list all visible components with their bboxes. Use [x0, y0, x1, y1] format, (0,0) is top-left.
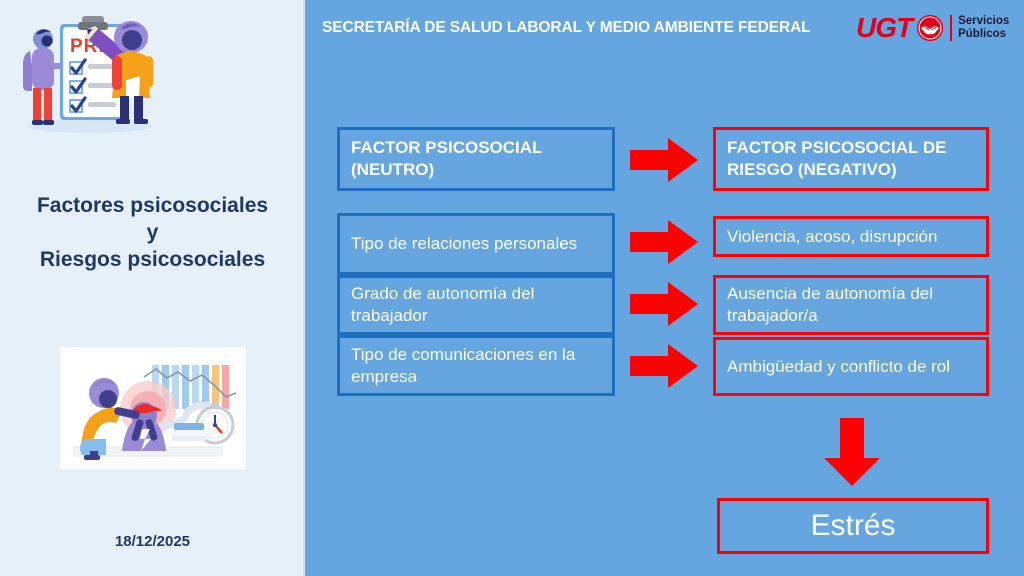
risk-factor-label-3: Ambigüedad y conflicto de rol	[716, 356, 950, 378]
handshake-emblem-icon	[917, 15, 943, 41]
neutral-factor-label-1: Tipo de relaciones personales	[340, 233, 577, 255]
workplace-stress-illustration	[60, 347, 246, 469]
neutral-factor-box-2[interactable]: Grado de autonomía del trabajador	[337, 275, 615, 335]
risk-factor-box-1[interactable]: Violencia, acoso, disrupción	[713, 216, 989, 257]
page-title-line-3: Riesgos psicosociales	[0, 246, 305, 273]
ugt-wordmark: UGT	[856, 14, 912, 42]
page-title: Factores psicosociales y Riesgos psicoso…	[0, 192, 305, 273]
arrow-right-icon	[630, 344, 698, 388]
outcome-estres-box[interactable]: Estrés	[717, 498, 989, 554]
neutral-factor-header-box[interactable]: FACTOR PSICOSOCIAL (NEUTRO)	[337, 127, 615, 191]
arrow-down-icon	[820, 418, 884, 486]
ugt-subtitle-line-2: Públicos	[958, 28, 1009, 41]
risk-factor-label-1: Violencia, acoso, disrupción	[716, 226, 937, 248]
neutral-factor-box-1[interactable]: Tipo de relaciones personales	[337, 213, 615, 275]
neutral-factor-label-2: Grado de autonomía del trabajador	[340, 283, 612, 327]
neutral-factor-label-3: Tipo de comunicaciones en la empresa	[340, 344, 612, 388]
neutral-factor-box-3[interactable]: Tipo de comunicaciones en la empresa	[337, 335, 615, 396]
risk-factor-header-label: FACTOR PSICOSOCIAL DE RIESGO (NEGATIVO)	[716, 137, 986, 181]
slide-date: 18/12/2025	[0, 533, 305, 550]
arrow-right-icon	[630, 220, 698, 264]
ugt-logo: UGT Servicios Públicos	[856, 8, 1016, 48]
slide-canvas: PRL	[0, 0, 1024, 576]
page-title-line-1: Factores psicosociales	[0, 192, 305, 219]
page-title-line-2: y	[0, 219, 305, 246]
ugt-subtitle: Servicios Públicos	[958, 15, 1009, 41]
neutral-factor-header-label: FACTOR PSICOSOCIAL (NEUTRO)	[340, 137, 612, 181]
outcome-estres-label: Estrés	[810, 515, 895, 537]
risk-factor-label-2: Ausencia de autonomía del trabajador/a	[716, 283, 986, 327]
sidebar-divider	[303, 0, 305, 576]
risk-factor-header-box[interactable]: FACTOR PSICOSOCIAL DE RIESGO (NEGATIVO)	[713, 127, 989, 191]
header-title: SECRETARÍA DE SALUD LABORAL Y MEDIO AMBI…	[322, 19, 811, 37]
logo-divider	[950, 15, 952, 41]
risk-factor-box-3[interactable]: Ambigüedad y conflicto de rol	[713, 337, 989, 396]
risk-factor-box-2[interactable]: Ausencia de autonomía del trabajador/a	[713, 275, 989, 335]
arrow-right-icon	[630, 138, 698, 182]
ugt-subtitle-line-1: Servicios	[958, 15, 1009, 28]
prl-clipboard-illustration: PRL	[8, 6, 168, 138]
arrow-right-icon	[630, 282, 698, 326]
